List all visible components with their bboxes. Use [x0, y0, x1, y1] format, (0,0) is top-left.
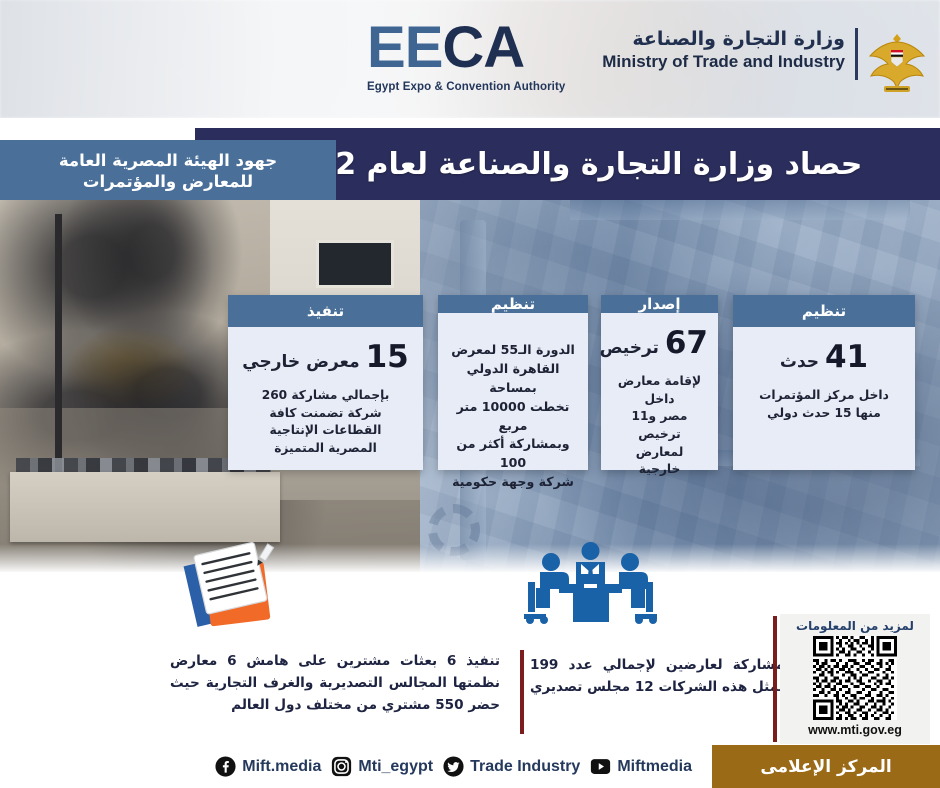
- stat-card-foreign-expos-description: بإجمالي مشاركة 260 شركة تضمنت كافة القطا…: [238, 387, 413, 458]
- eeca-logo: EECA Egypt Expo & Convention Authority: [367, 19, 562, 107]
- stat-card-cairo-fair-body: الدورة الـ55 لمعرض القاهرة الدولي بمساحة…: [438, 313, 588, 502]
- qr-panel-divider: [773, 616, 777, 742]
- stat-card-licenses-description: لإقامة معارض داخل مصر و11 ترخيص لمعارض خ…: [611, 373, 708, 479]
- stat-card-foreign-expos[interactable]: تنفيذ 15 معرض خارجي بإجمالي مشاركة 260 ش…: [228, 295, 423, 470]
- eeca-letter-a: A: [483, 15, 524, 80]
- stat-card-foreign-expos-number: 15: [366, 339, 409, 375]
- social-link-facebook[interactable]: Mift.media: [215, 756, 321, 777]
- ministry-name-english: Ministry of Trade and Industry: [602, 52, 845, 72]
- social-label-twitter[interactable]: Trade Industry: [470, 758, 580, 776]
- eeca-wordmark: EECA: [367, 19, 562, 77]
- subtitle-line-2: للمعارض والمؤتمرات: [83, 171, 253, 192]
- media-center-badge: المركز الإعلامى: [712, 745, 940, 788]
- bottom-text-row: استصدار 900 قرار مشاركة لعارضين لإجمالي …: [0, 636, 940, 741]
- qr-code-image[interactable]: [813, 636, 897, 720]
- stat-card-events-header: تنظيم: [733, 295, 915, 327]
- stat-card-foreign-expos-header: تنفيذ: [228, 295, 423, 327]
- social-link-youtube[interactable]: Miftmedia: [590, 756, 692, 777]
- bottom-text-buyer-missions: تنفيذ 6 بعثات مشترين على هامش 6 معارض نظ…: [170, 650, 500, 716]
- infographic-page: EECA Egypt Expo & Convention Authority و…: [0, 0, 940, 788]
- stat-card-foreign-expos-body: 15 معرض خارجي بإجمالي مشاركة 260 شركة تض…: [228, 327, 423, 470]
- social-label-instagram[interactable]: Mti_egypt: [358, 758, 433, 776]
- facebook-icon[interactable]: [215, 756, 236, 777]
- stat-card-foreign-expos-unit: معرض خارجي: [242, 352, 359, 372]
- qr-panel[interactable]: لمزيد من المعلومات: [780, 614, 930, 744]
- subtitle-band: جهود الهيئة المصرية العامة للمعارض والمؤ…: [0, 140, 336, 202]
- stat-card-cairo-fair[interactable]: تنظيم الدورة الـ55 لمعرض القاهرة الدولي …: [438, 295, 588, 470]
- stat-card-events[interactable]: تنظيم 41 حدث داخل مركز المؤتمرات منها 15…: [733, 295, 915, 470]
- eeca-letter-c: C: [442, 15, 483, 80]
- twitter-icon[interactable]: [443, 756, 464, 777]
- stat-card-events-description: داخل مركز المؤتمرات منها 15 حدث دولي: [743, 387, 905, 422]
- top-logo-bar: EECA Egypt Expo & Convention Authority و…: [0, 0, 940, 118]
- documents-icon: [175, 540, 290, 630]
- stat-card-events-body: 41 حدث داخل مركز المؤتمرات منها 15 حدث د…: [733, 327, 915, 470]
- social-link-twitter[interactable]: Trade Industry: [443, 756, 580, 777]
- eeca-logo-subtitle: Egypt Expo & Convention Authority: [367, 81, 562, 93]
- stat-card-foreign-expos-headline: 15 معرض خارجي: [238, 339, 413, 375]
- qr-website-url[interactable]: www.mti.gov.eg: [788, 723, 922, 737]
- egypt-eagle-emblem: [864, 26, 930, 96]
- footer-bar: المركز الإعلامى Mift.media Mti_egypt: [0, 745, 940, 788]
- stat-card-cairo-fair-header: تنظيم: [438, 295, 588, 313]
- eeca-letter-e1: E: [367, 15, 405, 80]
- social-label-facebook[interactable]: Mift.media: [242, 758, 321, 776]
- stat-card-licenses-header: إصدار: [601, 295, 718, 313]
- stat-cards-row: تنظيم 41 حدث داخل مركز المؤتمرات منها 15…: [0, 295, 940, 485]
- social-label-youtube[interactable]: Miftmedia: [617, 758, 692, 776]
- stat-card-licenses-number: 67: [665, 325, 708, 361]
- bottom-text-divider: [520, 650, 524, 734]
- social-link-instagram[interactable]: Mti_egypt: [331, 756, 433, 777]
- meeting-table-icon: [518, 540, 663, 625]
- subtitle-line-1: جهود الهيئة المصرية العامة: [59, 150, 277, 171]
- photo-bottom-fade: [0, 544, 940, 572]
- stat-card-events-unit: حدث: [780, 352, 819, 372]
- instagram-icon[interactable]: [331, 756, 352, 777]
- eeca-letter-e2: E: [405, 15, 443, 80]
- stat-card-events-headline: 41 حدث: [743, 339, 905, 375]
- stat-card-licenses-headline: 67 ترخيص: [611, 325, 708, 361]
- qr-panel-title: لمزيد من المعلومات: [788, 619, 922, 633]
- stat-card-licenses[interactable]: إصدار 67 ترخيص لإقامة معارض داخل مصر و11…: [601, 295, 718, 470]
- ministry-divider-rule: [855, 28, 858, 80]
- stat-card-events-number: 41: [825, 339, 868, 375]
- stat-card-licenses-body: 67 ترخيص لإقامة معارض داخل مصر و11 ترخيص…: [601, 313, 718, 489]
- stat-card-cairo-fair-description: الدورة الـ55 لمعرض القاهرة الدولي بمساحة…: [448, 325, 578, 492]
- photo-artwork-frame-1: [316, 240, 394, 288]
- stat-card-licenses-unit: ترخيص: [600, 338, 659, 358]
- ministry-branding: وزارة التجارة والصناعة Ministry of Trade…: [602, 28, 845, 72]
- youtube-icon[interactable]: [590, 756, 611, 777]
- ministry-name-arabic: وزارة التجارة والصناعة: [602, 28, 845, 50]
- social-links-row: Mift.media Mti_egypt Trade Industry: [215, 745, 692, 788]
